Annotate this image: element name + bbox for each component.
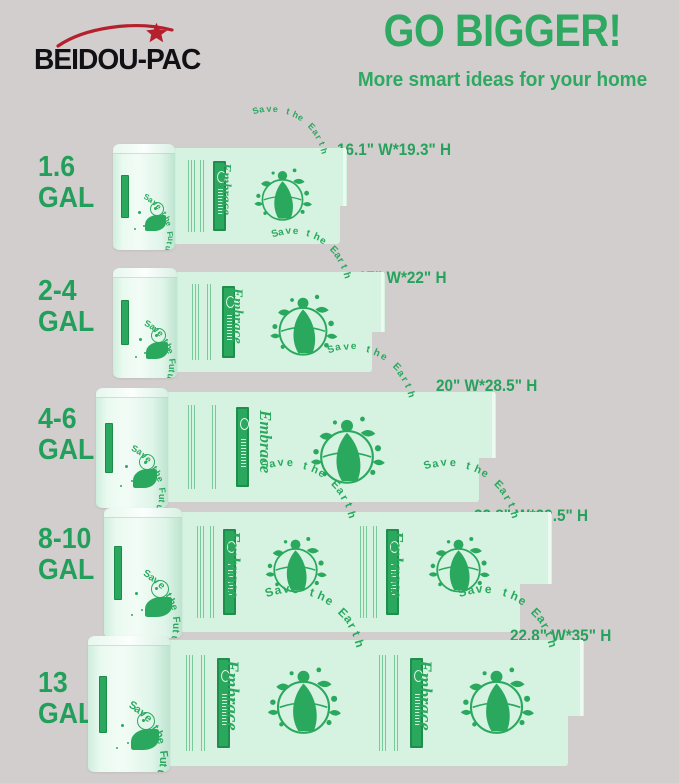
save-the-future-text: Save the Future (88, 636, 170, 772)
bubble-ring-graphic (137, 712, 155, 730)
save-the-future-text: Save the Future (96, 388, 168, 508)
page-subheadline: More smart ideas for your home (339, 68, 667, 92)
splash-dot-graphic (125, 465, 128, 468)
save-the-earth-text: Save the Earth (182, 148, 336, 244)
save-the-earth-text: Save the Earth (190, 512, 353, 632)
trash-bag-body: EmbraceSave the Earth (172, 148, 347, 244)
save-the-earth-text: Save the Earth (353, 512, 516, 632)
gallon-capacity-label: 4-6 GAL (38, 404, 94, 466)
bubble-ring-graphic (150, 202, 164, 216)
splash-dot-graphic (163, 221, 166, 224)
bubble-ring-graphic (151, 580, 169, 598)
bag-print-panel: EmbraceSave the Earth (185, 272, 368, 372)
bubble-ring-graphic (151, 328, 166, 343)
bag-edge-highlight (492, 392, 495, 458)
bag-roll-cylinder: Save the Future (113, 268, 177, 378)
bag-print-panel: EmbraceSave the Earth (190, 512, 353, 632)
save-the-earth-text: Save the Earth (371, 640, 564, 766)
bag-roll-cylinder: Save the Future (113, 144, 175, 250)
save-the-future-text: Save the Future (113, 144, 175, 250)
page-headline: GO BIGGER! (351, 6, 655, 56)
bag-roll-cylinder: Save the Future (96, 388, 168, 508)
splash-dot-graphic (121, 724, 124, 727)
trash-bag-body: EmbraceSave the EarthEmbraceSave the Ear… (180, 512, 552, 632)
bag-roll-cylinder: Save the Future (88, 636, 170, 772)
bag-edge-highlight (343, 148, 346, 206)
splash-dot-graphic (135, 592, 138, 595)
splash-dot-graphic (166, 604, 169, 607)
bag-roll-cylinder: Save the Future (104, 508, 182, 638)
save-the-earth-text: Save the Earth (185, 272, 368, 372)
splash-dot-graphic (139, 338, 142, 341)
gallon-capacity-label: 8-10 GAL (38, 524, 94, 586)
bag-edge-highlight (381, 272, 384, 332)
save-the-future-text: Save the Future (113, 268, 177, 378)
brand-name: BEIDOU-PAC (34, 44, 200, 77)
bag-edge-highlight (580, 640, 583, 716)
splash-dot-graphic (154, 737, 157, 740)
trash-bag-body: EmbraceSave the EarthEmbraceSave the Ear… (168, 640, 584, 766)
bag-print-panel: EmbraceSave the Earth (353, 512, 516, 632)
save-the-earth-text: Save the Earth (176, 392, 475, 502)
gallon-capacity-label: 1.6 GAL (38, 152, 94, 214)
trash-bag-body: EmbraceSave the Earth (175, 272, 385, 372)
splash-dot-graphic (154, 476, 157, 479)
bag-print-panel: EmbraceSave the Earth (178, 640, 371, 766)
splash-dot-graphic (164, 348, 167, 351)
bag-print-panel: EmbraceSave the Earth (371, 640, 564, 766)
bubble-ring-graphic (139, 454, 155, 470)
bag-dimension-label: 16.1" W*19.3" H (337, 140, 451, 159)
bag-edge-highlight (548, 512, 551, 584)
splash-dot-graphic (138, 211, 141, 214)
bag-print-panel: EmbraceSave the Earth (176, 392, 475, 502)
bag-print-panel: EmbraceSave the Earth (182, 148, 336, 244)
brand-logo: BEIDOU-PAC (34, 22, 264, 78)
save-the-future-text: Save the Future (104, 508, 182, 638)
gallon-capacity-label: 13 GAL (38, 668, 94, 730)
save-the-earth-text: Save the Earth (178, 640, 371, 766)
gallon-capacity-label: 2-4 GAL (38, 276, 94, 338)
product-size-infographic: BEIDOU-PAC GO BIGGER! More smart ideas f… (0, 0, 679, 783)
